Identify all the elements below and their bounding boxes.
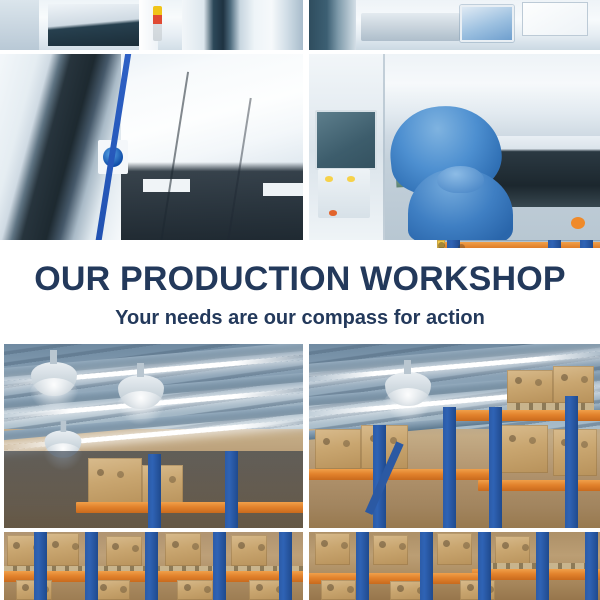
machine-middle (48, 4, 145, 46)
scene-factory-aisle (309, 0, 600, 50)
scene-warehouse-sliver (437, 240, 600, 248)
carton-stack (321, 580, 356, 600)
carton-stack (88, 458, 142, 506)
photo-cell-warehouse-aisle-deep[interactable] (309, 532, 600, 600)
signal-tower-light-icon (153, 6, 162, 41)
photo-cell-warehouse-racking-rows[interactable] (4, 532, 303, 600)
carton-stack (373, 535, 408, 565)
rack-upright (213, 532, 226, 600)
carton-stack (231, 535, 267, 566)
high-bay-lamp-icon (385, 372, 431, 406)
assembly-machine (361, 13, 460, 41)
rack-upright (145, 532, 158, 600)
carton-stack (495, 536, 530, 565)
carton-stack (165, 533, 201, 566)
page-title: OUR PRODUCTION WORKSHOP (0, 248, 600, 298)
collage-horizontal-seam (0, 50, 600, 54)
machine-right (182, 0, 303, 50)
machine-left (0, 0, 39, 50)
high-bay-lamp-icon (118, 375, 164, 409)
rack-upright (225, 451, 238, 528)
rack-upright (85, 532, 98, 600)
scene-smt-machine (0, 54, 303, 240)
collage-vertical-seam (303, 344, 309, 600)
photo-cell-signal-tower-aisle[interactable] (0, 0, 303, 50)
operator-two-cap (437, 166, 484, 194)
scene-operators (309, 54, 600, 240)
photo-cell-warehouse-racking-lit[interactable] (309, 344, 600, 528)
control-panel (318, 169, 370, 217)
blue-indicator-icon (492, 8, 502, 18)
scene-warehouse-aisle (309, 532, 600, 600)
yellow-marker (437, 240, 445, 248)
carton-stack (106, 536, 142, 566)
rack-upright (580, 240, 593, 248)
carton-stack (437, 533, 472, 564)
carton-stack (315, 429, 362, 469)
photo-cell-operator-at-conveyor[interactable] (309, 54, 600, 240)
carton-stack (94, 580, 130, 600)
machine-badge-icon (98, 140, 128, 174)
photo-cell-warehouse-ceiling-lamps[interactable] (4, 344, 303, 528)
scene-signal-tower-aisle (0, 0, 303, 50)
rack-beam (309, 469, 501, 480)
photo-cell-factory-aisle-monitor[interactable] (309, 0, 600, 50)
bottom-photo-collage (0, 344, 600, 600)
rack-upright (585, 532, 598, 600)
rack-upright (443, 407, 456, 528)
page-subtitle: Your needs are our compass for action (0, 298, 600, 329)
rack-beam (76, 502, 303, 513)
rack-upright (34, 532, 47, 600)
scene-warehouse-racking-lit (309, 344, 600, 528)
carton-stack (46, 533, 79, 566)
carton-stack (501, 425, 548, 473)
wall-documents (522, 2, 588, 36)
rack-upright (447, 240, 460, 248)
collage-left-margin (0, 344, 4, 600)
collage-vertical-seam (303, 0, 309, 248)
rack-upright (536, 532, 549, 600)
machine-lower-dark-section (121, 162, 303, 240)
caption-block: OUR PRODUCTION WORKSHOP Your needs are o… (0, 248, 600, 344)
carton-stack (507, 370, 554, 403)
rack-upright (148, 454, 161, 528)
warehouse-teaser-strip[interactable] (437, 240, 600, 248)
promotional-banner-page: OUR PRODUCTION WORKSHOP Your needs are o… (0, 0, 600, 600)
top-photo-collage (0, 0, 600, 248)
collage-horizontal-seam (0, 528, 600, 532)
rack-upright (420, 532, 433, 600)
scene-warehouse-ceiling (4, 344, 303, 528)
rack-upright (279, 532, 292, 600)
rack-upright (489, 407, 502, 528)
high-bay-lamp-icon (31, 362, 77, 396)
rack-upright (478, 532, 491, 600)
carton-stack (315, 533, 350, 564)
carton-stack (177, 580, 213, 600)
control-monitor (315, 110, 377, 170)
photo-cell-smt-machine-hood[interactable] (0, 54, 303, 240)
rack-upright (565, 396, 578, 528)
rack-upright (548, 240, 561, 248)
rack-upright (356, 532, 369, 600)
scene-warehouse-rows (4, 532, 303, 600)
